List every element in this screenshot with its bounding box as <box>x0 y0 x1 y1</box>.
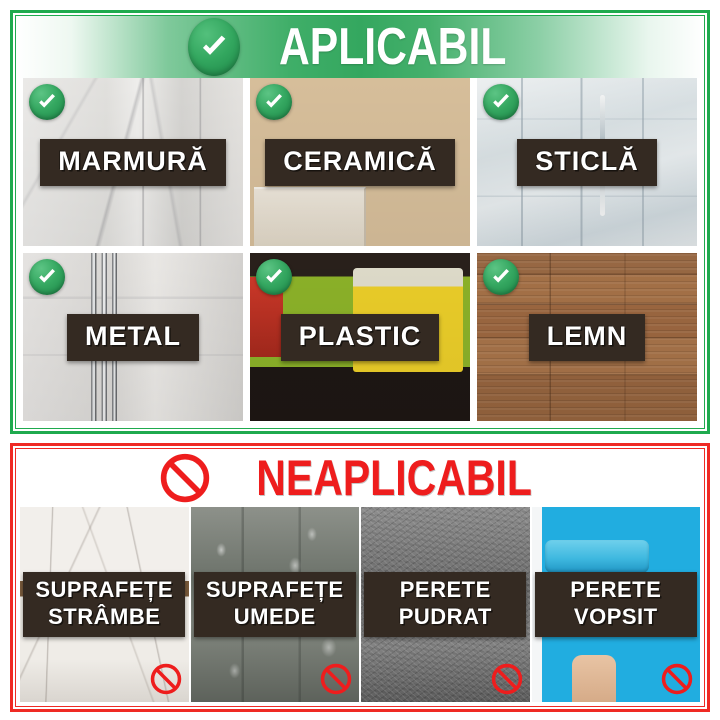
applicable-panel: APLICABIL MARMURĂ CERA <box>10 10 710 434</box>
applicable-header: APLICABIL <box>16 16 704 78</box>
prohibition-icon <box>158 451 212 505</box>
surface-label-line1: SUPRAFEȚE <box>31 579 177 601</box>
material-tile-sticla[interactable]: STICLĂ <box>477 78 697 246</box>
material-label: LEMN <box>529 314 646 361</box>
surface-label-line2: UMEDE <box>202 606 348 628</box>
prohibition-icon <box>660 662 694 696</box>
check-circle-icon <box>483 259 519 295</box>
prohibition-icon <box>149 662 183 696</box>
applicable-grid: MARMURĂ CERAMICĂ STICLĂ <box>16 78 704 428</box>
material-tile-marmura[interactable]: MARMURĂ <box>23 78 243 246</box>
not-applicable-inner-frame: NEAPLICABIL SUPRAFEȚE STRÂMBE <box>15 448 705 707</box>
check-circle-icon <box>29 84 65 120</box>
surface-label-line2: VOPSIT <box>543 606 689 628</box>
surface-label: SUPRAFEȚE UMEDE <box>194 572 356 637</box>
material-label: CERAMICĂ <box>265 139 455 186</box>
surface-tile-perete-vopsit[interactable]: PERETE VOPSIT <box>532 507 701 702</box>
surface-label: SUPRAFEȚE STRÂMBE <box>23 572 185 637</box>
surface-label: PERETE PUDRAT <box>364 572 526 637</box>
check-circle-icon <box>29 259 65 295</box>
applicable-title: APLICABIL <box>279 21 506 73</box>
prohibition-icon <box>319 662 353 696</box>
material-label: PLASTIC <box>281 314 440 361</box>
not-applicable-header: NEAPLICABIL <box>16 449 704 507</box>
prohibition-icon <box>490 662 524 696</box>
not-applicable-title: NEAPLICABIL <box>256 453 532 503</box>
material-tile-lemn[interactable]: LEMN <box>477 253 697 421</box>
product-compatibility-poster: APLICABIL MARMURĂ CERA <box>0 0 720 720</box>
surface-tile-perete-pudrat[interactable]: PERETE PUDRAT <box>361 507 530 702</box>
surface-label-line2: PUDRAT <box>372 606 518 628</box>
surface-tile-suprafete-strambe[interactable]: SUPRAFEȚE STRÂMBE <box>20 507 189 702</box>
check-circle-icon <box>483 84 519 120</box>
check-circle-icon <box>188 18 240 76</box>
surface-label-line1: SUPRAFEȚE <box>202 579 348 601</box>
surface-tile-suprafete-umede[interactable]: SUPRAFEȚE UMEDE <box>191 507 360 702</box>
surface-label-line1: PERETE <box>372 579 518 601</box>
check-circle-icon <box>256 259 292 295</box>
surface-label-line2: STRÂMBE <box>31 606 177 628</box>
not-applicable-grid: SUPRAFEȚE STRÂMBE SUPRAFEȚE UMEDE <box>16 507 704 706</box>
surface-label: PERETE VOPSIT <box>535 572 697 637</box>
material-label: STICLĂ <box>517 139 657 186</box>
applicable-inner-frame: APLICABIL MARMURĂ CERA <box>15 15 705 429</box>
material-tile-ceramica[interactable]: CERAMICĂ <box>250 78 470 246</box>
material-tile-metal[interactable]: METAL <box>23 253 243 421</box>
surface-label-line1: PERETE <box>543 579 689 601</box>
material-label: MARMURĂ <box>40 139 225 186</box>
material-tile-plastic[interactable]: PLASTIC <box>250 253 470 421</box>
check-circle-icon <box>256 84 292 120</box>
not-applicable-panel: NEAPLICABIL SUPRAFEȚE STRÂMBE <box>10 443 710 712</box>
material-label: METAL <box>67 314 199 361</box>
